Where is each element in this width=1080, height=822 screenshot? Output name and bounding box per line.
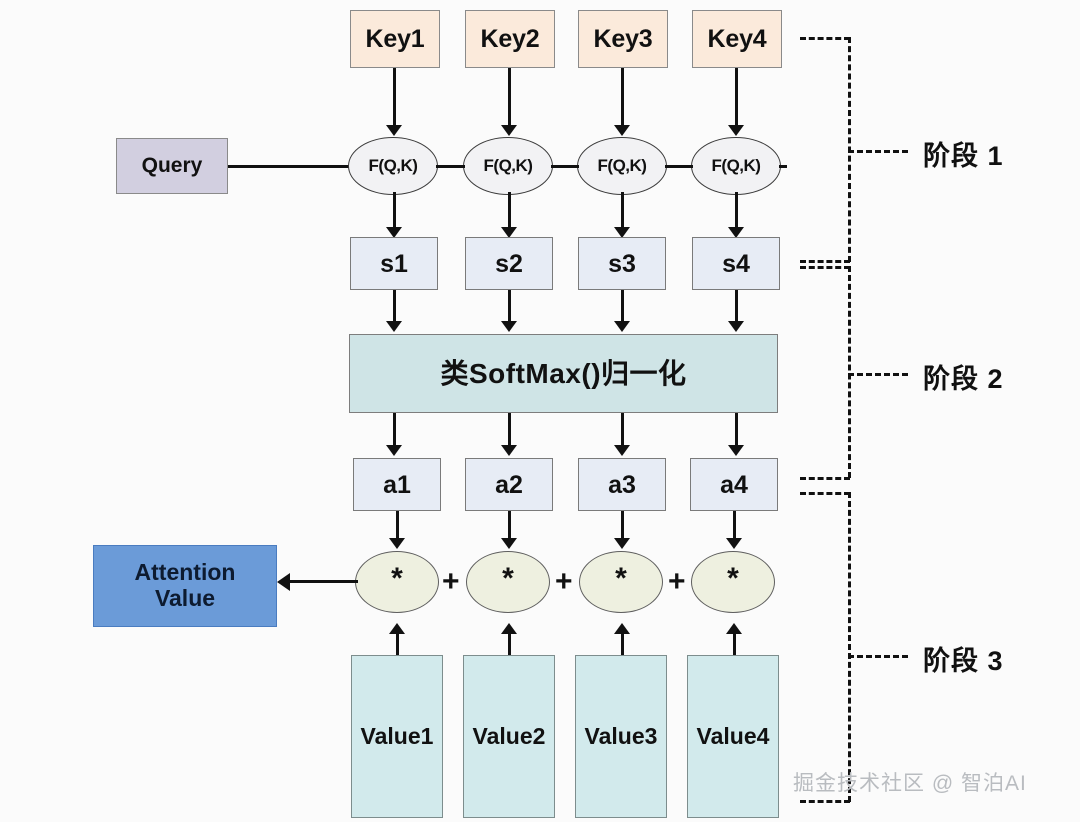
arrowhead-key1-fqk1: [386, 125, 402, 136]
connector-query-fqk1: [228, 165, 352, 168]
arrowhead-softmax-a4: [728, 445, 744, 456]
score-box-4[interactable]: s4: [692, 237, 780, 290]
connector-value3-mul3: [621, 633, 624, 655]
value-box-4[interactable]: Value4: [687, 655, 779, 818]
stage3-bracket-bottom: [800, 800, 850, 803]
weight-box-1[interactable]: a1: [353, 458, 441, 511]
arrowhead-softmax-a1: [386, 445, 402, 456]
arrowhead-value3-mul3: [614, 623, 630, 634]
key-box-2[interactable]: Key2: [465, 10, 555, 68]
connector-fqk1-fqk2: [436, 165, 465, 168]
attention-diagram-canvas: Key1 Key2 Key3 Key4 Query F(Q,K) F(Q,K) …: [0, 0, 1080, 822]
multiply-label: *: [727, 562, 739, 596]
score-label: s1: [380, 250, 408, 278]
key-label: Key1: [366, 25, 425, 53]
value-box-2[interactable]: Value2: [463, 655, 555, 818]
connector-value4-mul4: [733, 633, 736, 655]
connector-softmax-a1: [393, 413, 396, 446]
value-label: Value1: [361, 724, 434, 750]
connector-softmax-a2: [508, 413, 511, 446]
connector-s1-softmax: [393, 290, 396, 323]
score-label: s4: [722, 250, 750, 278]
multiply-node-4[interactable]: *: [691, 551, 775, 613]
similarity-node-1[interactable]: F(Q,K): [348, 137, 438, 195]
value-box-1[interactable]: Value1: [351, 655, 443, 818]
softmax-label: 类SoftMax()归一化: [440, 358, 686, 389]
connector-s2-softmax: [508, 290, 511, 323]
connector-fqk3-fqk4: [665, 165, 693, 168]
multiply-node-3[interactable]: *: [579, 551, 663, 613]
connector-fqk3-s3: [621, 192, 624, 229]
stage1-bracket-tick: [848, 150, 908, 153]
stage-label-2: 阶段 2: [923, 357, 1004, 396]
arrowhead-a1-mul1: [389, 538, 405, 549]
weight-label: a1: [383, 471, 411, 499]
arrowhead-a3-mul3: [614, 538, 630, 549]
connector-a2-mul2: [508, 511, 511, 540]
multiply-node-2[interactable]: *: [466, 551, 550, 613]
connector-key4-fqk4: [735, 68, 738, 126]
arrowhead-s4-softmax: [728, 321, 744, 332]
connector-a4-mul4: [733, 511, 736, 540]
weight-label: a2: [495, 471, 523, 499]
arrowhead-value1-mul1: [389, 623, 405, 634]
connector-a3-mul3: [621, 511, 624, 540]
multiply-node-1[interactable]: *: [355, 551, 439, 613]
arrowhead-softmax-a3: [614, 445, 630, 456]
stage2-bracket-bottom: [800, 477, 850, 480]
stage-label-3: 阶段 3: [923, 639, 1004, 678]
connector-value2-mul2: [508, 633, 511, 655]
stage3-bracket-tick: [848, 655, 908, 658]
arrowhead-key3-fqk3: [614, 125, 630, 136]
arrowhead-a2-mul2: [501, 538, 517, 549]
score-box-3[interactable]: s3: [578, 237, 666, 290]
multiply-label: *: [391, 562, 403, 596]
arrowhead-mul1-attention: [277, 573, 290, 591]
connector-s4-softmax: [735, 290, 738, 323]
connector-key3-fqk3: [621, 68, 624, 126]
key-label: Key3: [594, 25, 653, 53]
multiply-label: *: [615, 562, 627, 596]
connector-value1-mul1: [396, 633, 399, 655]
attention-value-line1: Attention: [135, 560, 236, 586]
value-label: Value2: [473, 724, 546, 750]
similarity-label: F(Q,K): [598, 156, 647, 175]
plus-operator-1: +: [442, 567, 460, 597]
query-label: Query: [142, 154, 203, 178]
key-label: Key4: [708, 25, 767, 53]
softmax-band[interactable]: 类SoftMax()归一化: [349, 334, 778, 413]
stage2-bracket-tick: [848, 373, 908, 376]
arrowhead-value4-mul4: [726, 623, 742, 634]
similarity-node-2[interactable]: F(Q,K): [463, 137, 553, 195]
arrowhead-softmax-a2: [501, 445, 517, 456]
similarity-node-3[interactable]: F(Q,K): [577, 137, 667, 195]
weight-box-4[interactable]: a4: [690, 458, 778, 511]
arrowhead-value2-mul2: [501, 623, 517, 634]
score-box-2[interactable]: s2: [465, 237, 553, 290]
similarity-label: F(Q,K): [712, 156, 761, 175]
key-box-3[interactable]: Key3: [578, 10, 668, 68]
stage3-bracket-spine: [848, 492, 851, 802]
arrowhead-key4-fqk4: [728, 125, 744, 136]
arrowhead-s2-softmax: [501, 321, 517, 332]
arrowhead-s1-softmax: [386, 321, 402, 332]
similarity-node-4[interactable]: F(Q,K): [691, 137, 781, 195]
connector-mul1-attention: [290, 580, 358, 583]
weight-label: a4: [720, 471, 748, 499]
attention-value-line2: Value: [155, 586, 215, 612]
key-box-4[interactable]: Key4: [692, 10, 782, 68]
value-label: Value4: [697, 724, 770, 750]
arrowhead-a4-mul4: [726, 538, 742, 549]
stage2-bracket-spine: [848, 266, 851, 478]
connector-fqk2-s2: [508, 192, 511, 229]
multiply-label: *: [502, 562, 514, 596]
connector-key1-fqk1: [393, 68, 396, 126]
query-box[interactable]: Query: [116, 138, 228, 194]
connector-fqk4-tail: [779, 165, 787, 168]
connector-key2-fqk2: [508, 68, 511, 126]
connector-s3-softmax: [621, 290, 624, 323]
score-label: s2: [495, 250, 523, 278]
attention-value-box[interactable]: Attention Value: [93, 545, 277, 627]
arrowhead-key2-fqk2: [501, 125, 517, 136]
connector-softmax-a4: [735, 413, 738, 446]
score-box-1[interactable]: s1: [350, 237, 438, 290]
score-label: s3: [608, 250, 636, 278]
watermark: 掘金技术社区 @ 智泊AI: [793, 767, 1027, 797]
similarity-label: F(Q,K): [369, 156, 418, 175]
stage1-bracket-bottom: [800, 260, 850, 263]
connector-a1-mul1: [396, 511, 399, 540]
weight-label: a3: [608, 471, 636, 499]
stage2-bracket-top: [800, 266, 850, 269]
connector-fqk4-s4: [735, 192, 738, 229]
connector-fqk2-fqk3: [551, 165, 579, 168]
plus-operator-3: +: [668, 567, 686, 597]
connector-softmax-a3: [621, 413, 624, 446]
connector-fqk1-s1: [393, 192, 396, 229]
key-label: Key2: [481, 25, 540, 53]
value-box-3[interactable]: Value3: [575, 655, 667, 818]
arrowhead-s3-softmax: [614, 321, 630, 332]
stage-label-1: 阶段 1: [923, 134, 1004, 173]
key-box-1[interactable]: Key1: [350, 10, 440, 68]
stage3-bracket-top: [800, 492, 850, 495]
weight-box-2[interactable]: a2: [465, 458, 553, 511]
value-label: Value3: [585, 724, 658, 750]
similarity-label: F(Q,K): [484, 156, 533, 175]
stage1-bracket-top: [800, 37, 850, 40]
plus-operator-2: +: [555, 567, 573, 597]
weight-box-3[interactable]: a3: [578, 458, 666, 511]
